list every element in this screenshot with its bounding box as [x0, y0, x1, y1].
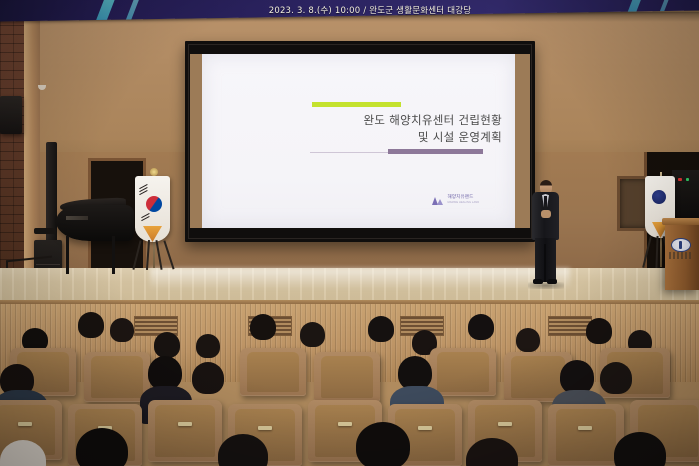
audience-head	[110, 318, 134, 342]
line-array-speaker-icon	[46, 142, 57, 254]
rack-power-led-icon	[678, 178, 682, 181]
auditorium-seat	[148, 400, 222, 462]
audience-head	[368, 316, 394, 342]
flag-stand-left	[136, 240, 170, 270]
screen-bleed-right	[515, 54, 530, 228]
wall-speaker-icon	[0, 96, 22, 134]
slide-title-line-2: 및 시설 운영계획	[212, 129, 502, 146]
audience-head	[154, 332, 180, 358]
seat-number-tag	[418, 426, 432, 430]
screen-bleed-left	[190, 54, 202, 228]
audience-area	[0, 304, 699, 466]
stage-floor-reflection	[150, 268, 570, 290]
audience-head	[586, 318, 612, 344]
audience-head	[516, 328, 540, 352]
auditorium-seat	[84, 352, 150, 402]
flag-finial-icon-left	[150, 168, 158, 176]
audience-head	[356, 422, 410, 466]
audience-head	[398, 356, 432, 390]
seat-number-tag	[338, 422, 352, 426]
auditorium-photo: 2023. 3. 8.(수) 10:00 / 완도군 생활문화센터 대강당 완도…	[0, 0, 699, 466]
seat-number-tag	[578, 426, 592, 430]
slide-logo: 해양치유랜드 MARINE HEALING LAND	[432, 196, 479, 205]
seat-number-tag	[18, 422, 32, 426]
seat-number-tag	[258, 426, 272, 430]
presenter-shoe-right	[547, 279, 557, 284]
audience-head	[78, 312, 104, 338]
audience-head	[148, 356, 182, 390]
taeguk-symbol-icon	[146, 196, 162, 212]
piano-bench	[34, 228, 56, 234]
auditorium-seat	[548, 404, 624, 466]
mountain-logo-icon	[432, 196, 445, 205]
brick-column	[0, 14, 24, 278]
auditorium-seat	[240, 348, 306, 396]
slide-accent-bar	[312, 102, 401, 107]
slide-title: 완도 해양치유센터 건립현황 및 시설 운영계획	[212, 112, 502, 146]
podium-emblem-icon	[671, 238, 691, 252]
institution-flag-emblem-icon	[652, 190, 666, 204]
audience-head	[600, 362, 632, 394]
audience-head	[300, 322, 325, 347]
audience-head	[560, 360, 594, 394]
presenter-hands	[541, 210, 551, 218]
rack-status-led-icon	[686, 178, 689, 181]
podium-nameplate	[669, 252, 693, 259]
audience-head	[76, 428, 128, 466]
slide-rule-thick	[388, 149, 483, 154]
auditorium-seat	[314, 352, 380, 402]
audience-head	[468, 314, 494, 340]
seat-number-tag	[178, 422, 192, 426]
slide-logo-en: MARINE HEALING LAND	[448, 202, 480, 205]
podium-top	[662, 218, 699, 225]
audience-head	[192, 362, 224, 394]
audience-head	[250, 314, 276, 340]
presenter-shoe-left	[533, 279, 543, 284]
presenter-trousers	[535, 238, 556, 282]
slide-title-line-1: 완도 해양치유센터 건립현황	[212, 112, 502, 129]
piano-leg-1	[66, 236, 69, 274]
audience-head	[196, 334, 220, 358]
seat-number-tag	[498, 422, 512, 426]
slide-rule-thin	[310, 152, 390, 154]
event-banner-text: 2023. 3. 8.(수) 10:00 / 완도군 생활문화센터 대강당	[0, 4, 699, 16]
piano-leg-2	[112, 236, 115, 274]
auditorium-seat	[430, 348, 496, 396]
piano-keyboard	[66, 216, 88, 220]
